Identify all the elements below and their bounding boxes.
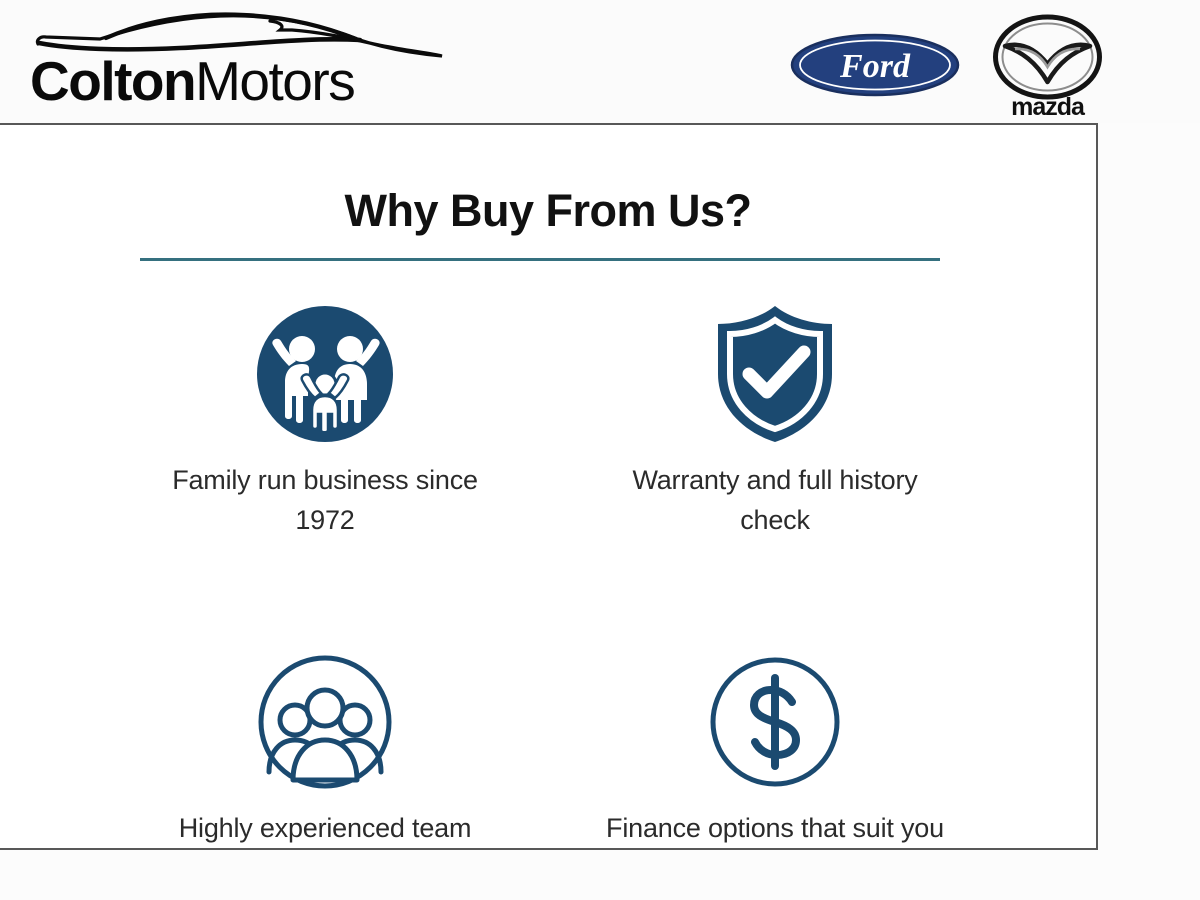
feature-label: Warranty and full history check xyxy=(595,460,955,540)
brand-logo[interactable]: ColtonMotors xyxy=(30,6,450,118)
mazda-wings-logo[interactable]: mazda xyxy=(985,12,1110,120)
feature-icon-wrap xyxy=(255,300,395,448)
feature-item-finance[interactable]: Finance options that suit you xyxy=(550,648,1000,848)
brand-name-primary: Colton xyxy=(30,50,195,112)
feature-icon-wrap xyxy=(707,648,843,796)
feature-icon-wrap xyxy=(255,648,395,796)
feature-label: Family run business since 1972 xyxy=(145,460,505,540)
title-divider xyxy=(140,258,940,261)
feature-label: Highly experienced team xyxy=(145,808,505,848)
shield-check-icon xyxy=(708,302,842,446)
dollar-circle-icon xyxy=(707,654,843,790)
mazda-wordmark: mazda xyxy=(1011,93,1086,120)
feature-icon-wrap xyxy=(708,300,842,448)
ford-oval-logo[interactable]: Ford xyxy=(790,33,960,97)
ford-wordmark: Ford xyxy=(839,48,911,85)
feature-item-family[interactable]: Family run business since 1972 xyxy=(100,300,550,540)
feature-item-team[interactable]: Highly experienced team xyxy=(100,648,550,848)
family-icon xyxy=(255,304,395,444)
feature-item-warranty[interactable]: Warranty and full history check xyxy=(550,300,1000,540)
feature-label: Finance options that suit you xyxy=(595,808,955,848)
feature-row-1: Family run business since 1972 Warranty … xyxy=(100,300,1000,540)
page-header: ColtonMotors Ford mazda xyxy=(0,0,1200,123)
brand-name-secondary: Motors xyxy=(195,50,354,112)
content-panel: Why Buy From Us? xyxy=(0,123,1098,850)
page-title: Why Buy From Us? xyxy=(0,185,1096,237)
brand-wordmark: ColtonMotors xyxy=(30,50,354,112)
team-icon xyxy=(255,652,395,792)
feature-row-2: Highly experienced team Finance options … xyxy=(100,648,1000,848)
feature-grid: Family run business since 1972 Warranty … xyxy=(100,300,1000,848)
